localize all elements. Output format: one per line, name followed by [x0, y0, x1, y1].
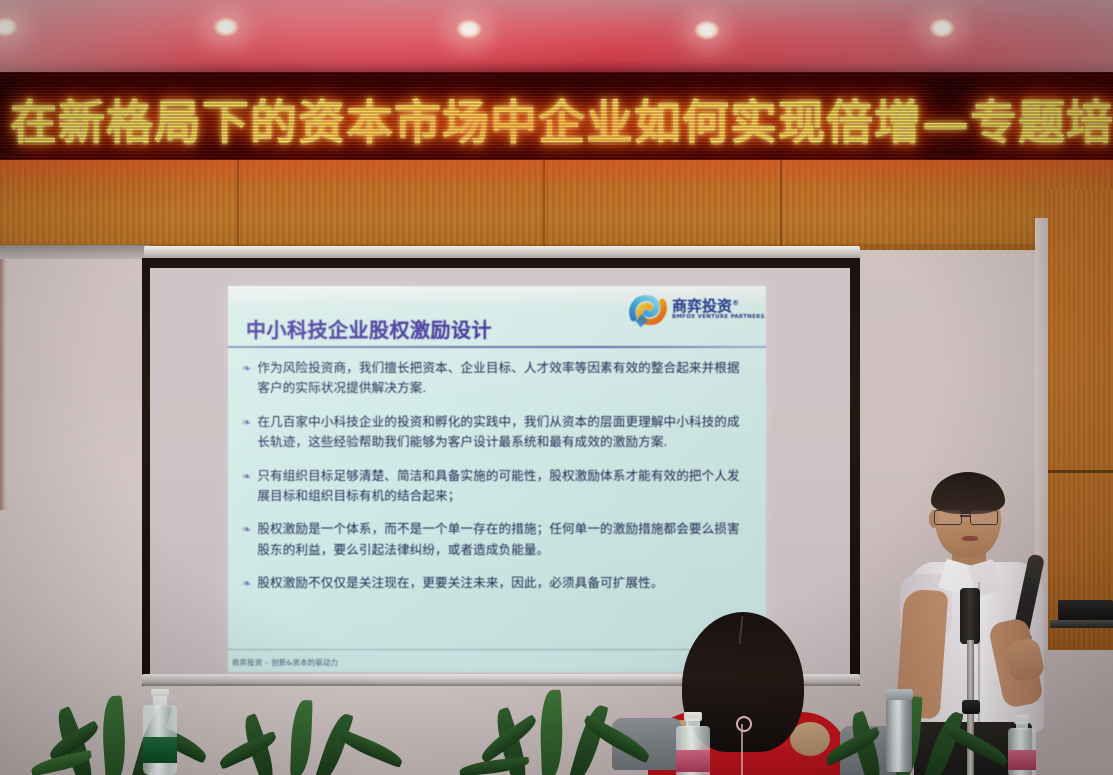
slide-bullet-text: 股权激励不仅仅是关注现在，更要关注未来，因此，必须具备可扩展性。	[257, 573, 752, 593]
glasses-lens-left	[934, 510, 962, 525]
logo-english-name: BMFOX VENTURE PARTNERS	[672, 315, 765, 321]
presenter-glasses	[934, 510, 1002, 523]
presenter-hair	[931, 472, 1005, 514]
laptop-on-podium	[1058, 600, 1113, 622]
potted-plant	[832, 694, 1022, 775]
potted-plant	[46, 690, 236, 775]
glasses-bridge	[960, 515, 970, 517]
slide-bullet-text: 作为风险投资商，我们擅长把资本、企业目标、人才效率等因素有效的整合起来并根据客户…	[257, 358, 752, 399]
bottle-neck	[153, 696, 167, 705]
potted-plant	[470, 690, 660, 775]
bullet-marker-icon: ❧	[242, 414, 251, 453]
plant-leaf	[539, 690, 564, 775]
thermos-cap	[885, 689, 913, 700]
bullet-marker-icon: ❧	[242, 521, 251, 560]
water-bottle	[676, 712, 710, 775]
bullet-marker-icon: ❧	[242, 468, 251, 507]
ceiling-downlight	[456, 19, 482, 39]
water-bottle	[1008, 716, 1036, 775]
zipper-pull-ring	[736, 716, 752, 732]
slide-bullet-item: ❧ 股权激励是一个体系，而不是一个单一存在的措施；任何单一的激励措施都会要么损害…	[242, 519, 752, 560]
potted-plant	[236, 700, 416, 775]
logo-wordmark: 商弈投资® BMFOX VENTURE PARTNERS	[672, 299, 765, 321]
slide-bullet-item: ❧ 作为风险投资商，我们擅长把资本、企业目标、人才效率等因素有效的整合起来并根据…	[242, 358, 752, 399]
water-bottle	[143, 689, 177, 775]
bmfox-swirl-icon	[628, 291, 668, 329]
ceiling-downlight	[694, 20, 720, 40]
wall-corner-shadow	[0, 250, 6, 510]
zipper	[741, 724, 743, 775]
slide-bullet-list: ❧ 作为风险投资商，我们擅长把资本、企业目标、人才效率等因素有效的整合起来并根据…	[242, 358, 752, 607]
slide-bullet-text: 只有组织目标足够清楚、简洁和具备实施的可能性，股权激励体系才能有效的把个人发展目…	[257, 466, 752, 507]
slide-footer-left-text: 商弈投资 – 创新&资本的驱动力	[232, 657, 338, 668]
left-wall-ledge	[0, 245, 150, 259]
led-scrolling-banner: 在新格局下的资本市场中企业如何实现倍增—专题培训	[0, 72, 1113, 162]
ceiling-downlight	[929, 18, 955, 38]
plant-leaf	[335, 728, 406, 768]
slide-bullet-text: 在几百家中小科技企业的投资和孵化的实践中，我们从资本的层面更理解中小科技的成长轨…	[257, 412, 752, 453]
bottle-label	[143, 737, 177, 763]
plant-leaf	[100, 695, 128, 775]
company-logo: 商弈投资® BMFOX VENTURE PARTNERS	[628, 288, 760, 332]
plant-leaf	[290, 700, 313, 775]
microphone-stand-clip	[960, 588, 980, 644]
slide-bullet-item: ❧ 股权激励不仅仅是关注现在，更要关注未来，因此，必须具备可扩展性。	[242, 573, 752, 593]
bullet-marker-icon: ❧	[242, 575, 251, 593]
slide-bullet-item: ❧ 只有组织目标足够清楚、简洁和具备实施的可能性，股权激励体系才能有效的把个人发…	[242, 466, 752, 507]
bottle-label	[1008, 750, 1036, 770]
bullet-marker-icon: ❧	[242, 360, 251, 399]
slide-bullet-item: ❧ 在几百家中小科技企业的投资和孵化的实践中，我们从资本的层面更理解中小科技的成…	[242, 412, 752, 453]
slide-bullet-text: 股权激励是一个体系，而不是一个单一存在的措施；任何单一的激励措施都会要么损害股东…	[257, 519, 752, 560]
audience-member-shoulder-right	[790, 722, 830, 756]
seminar-room-photo: 在新格局下的资本市场中企业如何实现倍增—专题培训	[0, 0, 1113, 775]
led-banner-text: 在新格局下的资本市场中企业如何实现倍增—专题培训	[10, 85, 1103, 151]
podium-surface	[1050, 620, 1113, 628]
slide-title-divider	[228, 346, 766, 348]
slide-title: 中小科技企业股权激励设计	[246, 314, 492, 343]
presenter-mouth	[962, 536, 978, 541]
glasses-lens-right	[970, 510, 998, 525]
logo-chinese-name: 商弈投资®	[672, 299, 765, 315]
bottle-label	[676, 750, 710, 772]
thermos-flask	[886, 698, 912, 772]
ceiling-downlight	[213, 17, 239, 37]
